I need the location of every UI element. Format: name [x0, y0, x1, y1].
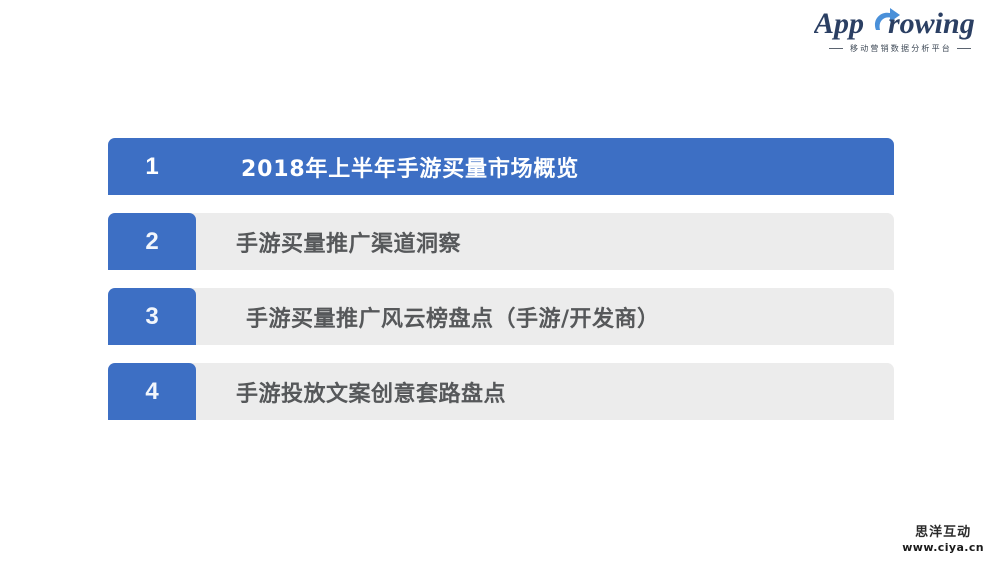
agenda-item-4[interactable]: 4 手游投放文案创意套路盘点	[108, 363, 894, 420]
agenda-item-3[interactable]: 3 手游买量推广风云榜盘点（手游/开发商）	[108, 288, 894, 345]
logo-wordmark: App rowing	[814, 6, 986, 40]
agenda-number-badge: 1	[108, 138, 196, 195]
agenda-item-1[interactable]: 1 2018年上半年手游买量市场概览	[108, 138, 894, 195]
watermark-url: www.ciya.cn	[902, 542, 984, 555]
watermark-company-name: 思洋互动	[902, 526, 984, 541]
svg-text:App: App	[814, 7, 864, 40]
agenda-list: 1 2018年上半年手游买量市场概览 2 手游买量推广渠道洞察 3 手游买量推广…	[108, 138, 894, 420]
watermark: 思洋互动 www.ciya.cn	[902, 526, 984, 555]
agenda-number-badge: 3	[108, 288, 196, 345]
agenda-item-2[interactable]: 2 手游买量推广渠道洞察	[108, 213, 894, 270]
svg-text:rowing: rowing	[888, 7, 975, 40]
agenda-item-label: 2018年上半年手游买量市场概览	[196, 138, 579, 195]
agenda-number-badge: 2	[108, 213, 196, 270]
agenda-item-label: 手游买量推广渠道洞察	[196, 213, 461, 270]
agenda-item-label: 手游投放文案创意套路盘点	[196, 363, 506, 420]
logo-tagline: 移动营销数据分析平台	[814, 43, 986, 54]
agenda-item-label: 手游买量推广风云榜盘点（手游/开发商）	[196, 288, 660, 345]
agenda-number-badge: 4	[108, 363, 196, 420]
tagline-dash-right	[957, 48, 971, 49]
app-growing-logo: App rowing 移动营销数据分析平台	[814, 6, 986, 54]
tagline-dash-left	[829, 48, 843, 49]
logo-tagline-text: 移动营销数据分析平台	[850, 43, 952, 54]
